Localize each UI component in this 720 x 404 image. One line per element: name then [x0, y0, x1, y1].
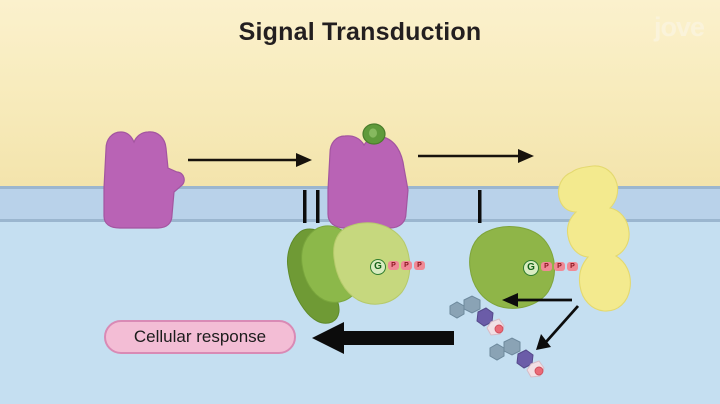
phosphate-badge-right-1: P — [541, 262, 552, 271]
transmembrane-helix-mark-right — [478, 190, 482, 223]
effector-protein — [559, 166, 631, 311]
g-protein-label-right: G — [523, 260, 539, 276]
ligand-bound-receptor — [328, 136, 408, 228]
cellular-response-text: Cellular response — [134, 327, 266, 347]
phosphate-badge-right-2: P — [554, 262, 565, 271]
phosphate-badge-center-1: P — [388, 261, 399, 270]
activation-arrow-1 — [188, 153, 312, 167]
cellular-response-label: Cellular response — [104, 320, 296, 354]
unbound-receptor — [104, 132, 184, 228]
phosphate-badge-center-3: P — [414, 261, 425, 270]
phosphate-badge-right-3: P — [567, 262, 578, 271]
phosphate-badge-center-2: P — [401, 261, 412, 270]
activation-arrow-2 — [418, 149, 534, 163]
second-messenger-molecule-2 — [490, 338, 544, 377]
cellular-response-arrow — [312, 322, 454, 354]
signal-molecule — [363, 124, 385, 144]
second-messenger-arrow-lower — [536, 306, 578, 350]
transmembrane-helix-marks-center — [303, 190, 320, 223]
g-protein-label-center: G — [370, 259, 386, 275]
slide-canvas: Signal Transduction jove — [0, 0, 720, 404]
